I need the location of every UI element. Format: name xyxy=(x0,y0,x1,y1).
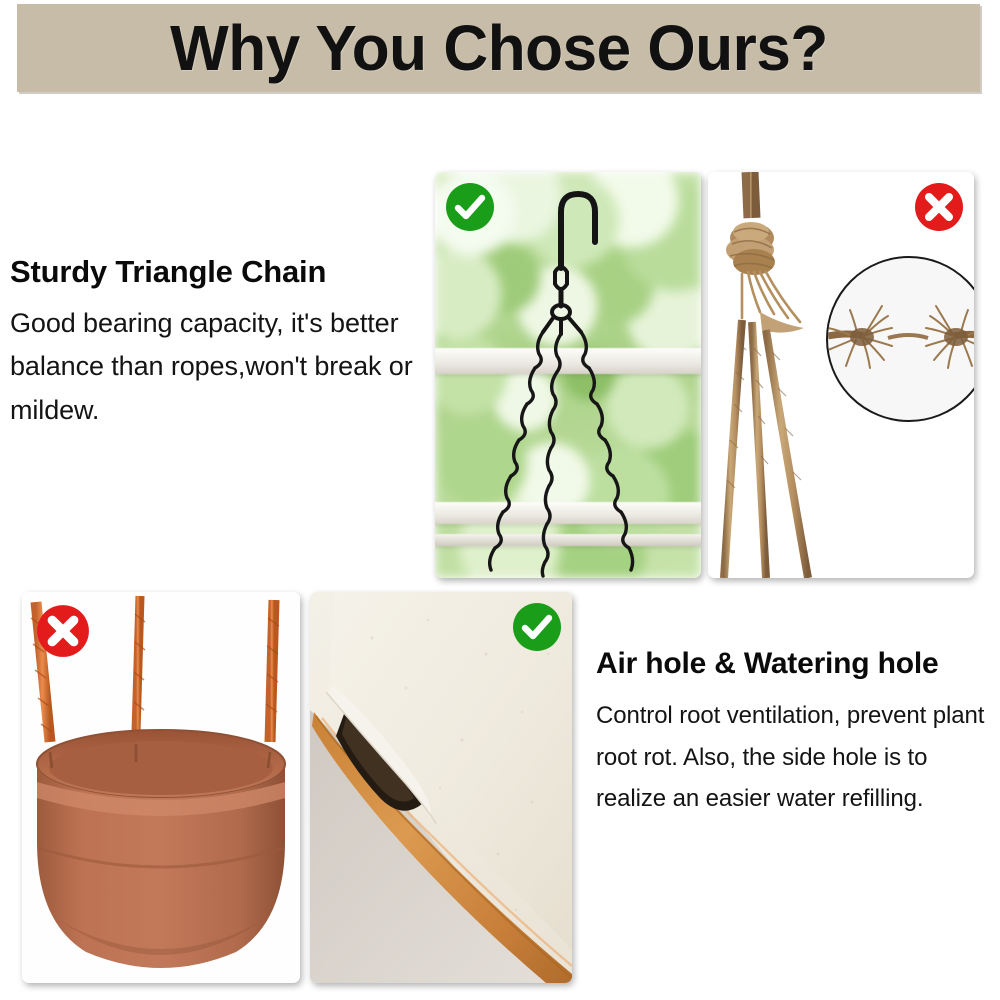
feature-body-chain: Good bearing capacity, it's better balan… xyxy=(10,302,428,433)
photo-panel-pot xyxy=(22,592,300,983)
photo-panel-hole xyxy=(310,592,572,983)
cross-badge-icon xyxy=(914,182,964,232)
feature-title-chain: Sturdy Triangle Chain xyxy=(10,252,428,292)
feature-text-hole: Air hole & Watering hole Control root ve… xyxy=(596,645,992,819)
broken-rope-detail xyxy=(828,258,974,420)
cross-badge-icon xyxy=(36,604,90,658)
photo-panel-chain xyxy=(435,172,701,578)
feature-body-hole: Control root ventilation, prevent plant … xyxy=(596,695,992,819)
hanging-chain-illustration xyxy=(435,172,701,578)
check-badge-icon xyxy=(512,602,562,652)
photo-panel-rope xyxy=(708,172,974,578)
infographic-root: Why You Chose Ours? Sturdy Triangle Chai… xyxy=(0,0,1000,1000)
check-badge-icon xyxy=(445,182,495,232)
header-banner: Why You Chose Ours? xyxy=(17,4,980,92)
feature-text-chain: Sturdy Triangle Chain Good bearing capac… xyxy=(10,252,428,433)
feature-title-hole: Air hole & Watering hole xyxy=(596,645,992,683)
page-title: Why You Chose Ours? xyxy=(170,16,828,80)
